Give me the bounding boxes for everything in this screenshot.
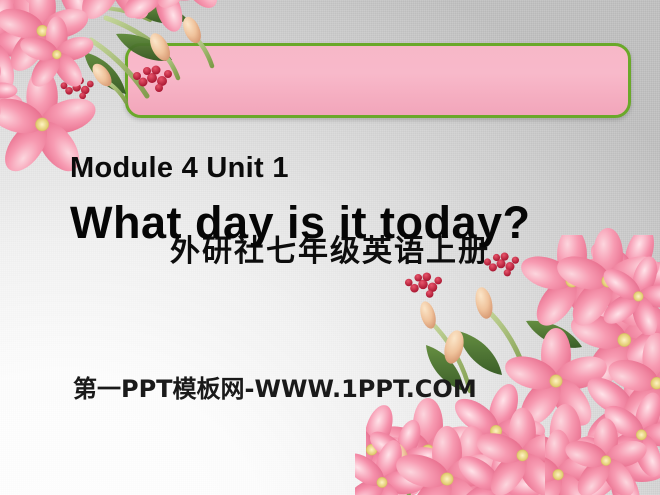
- module-unit-subtitle: Module 4 Unit 1: [70, 152, 289, 185]
- module-banner: [125, 43, 631, 118]
- flowers-bottom-edge-decoration: [355, 405, 545, 495]
- watermark-text: 第一PPT模板网-WWW.1PPT.COM: [73, 369, 477, 404]
- presentation-slide: 外研社七年级英语上册 Module 4 Unit 1 What day is i…: [0, 0, 660, 495]
- page-title: What day is it today?: [70, 197, 531, 249]
- flowers-bottom-right-decoration: [366, 235, 660, 495]
